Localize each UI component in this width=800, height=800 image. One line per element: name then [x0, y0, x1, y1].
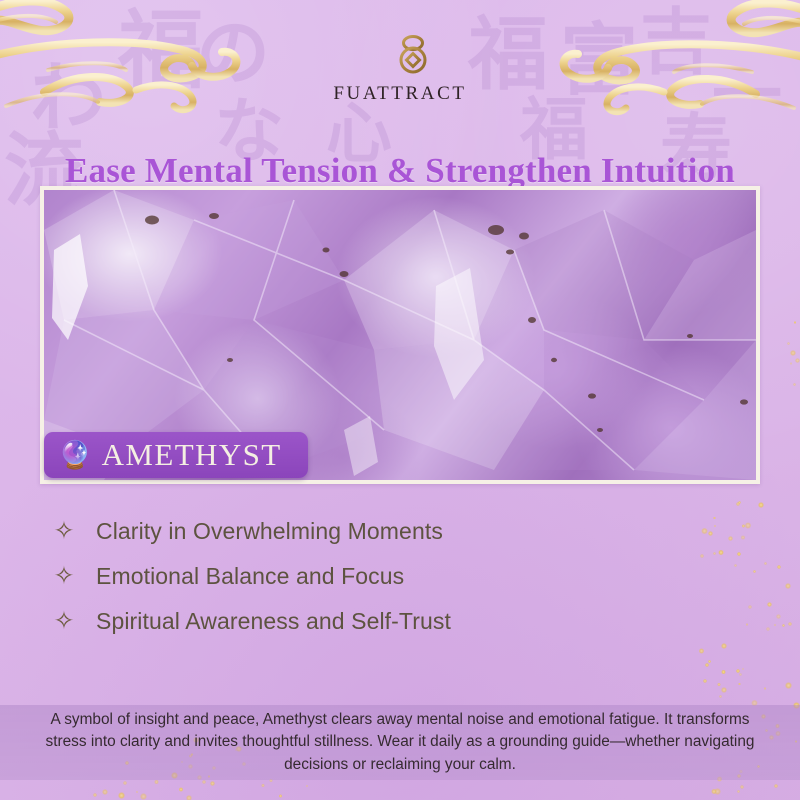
list-item: ✧ Emotional Balance and Focus	[52, 563, 672, 590]
status-badge: 🔮 AMETHYST	[44, 432, 308, 478]
glitter-particle	[736, 669, 740, 673]
glitter-particle	[708, 531, 713, 536]
sparkle-star-icon: ✧	[52, 609, 76, 634]
glitter-particle	[795, 358, 799, 362]
glitter-particle	[721, 687, 727, 693]
glitter-particle	[118, 792, 125, 799]
benefit-list: ✧ Clarity in Overwhelming Moments ✧ Emot…	[52, 518, 672, 635]
brand-header: FUATTRACT	[0, 26, 800, 105]
glitter-particle	[777, 565, 781, 569]
glitter-particle	[782, 624, 786, 628]
glitter-particle	[742, 524, 745, 527]
footer-description: A symbol of insight and peace, Amethyst …	[28, 709, 772, 777]
glitter-particle	[717, 683, 720, 686]
glitter-particle	[739, 673, 742, 676]
list-item-label: Spiritual Awareness and Self-Trust	[96, 608, 451, 635]
glitter-particle	[785, 682, 792, 689]
glitter-particle	[728, 536, 733, 541]
glitter-particle	[713, 552, 716, 555]
glitter-particle	[721, 643, 727, 649]
glitter-particle	[774, 624, 776, 626]
list-item-label: Clarity in Overwhelming Moments	[96, 518, 443, 545]
glitter-particle	[261, 784, 264, 787]
glitter-particle	[719, 695, 721, 697]
glitter-particle	[764, 562, 767, 565]
glitter-particle	[179, 787, 184, 792]
glitter-particle	[701, 528, 708, 535]
glitter-particle	[714, 525, 716, 527]
brand-wordmark: FUATTRACT	[333, 83, 466, 105]
glitter-particle	[737, 552, 742, 557]
glitter-particle	[748, 605, 752, 609]
glitter-particle	[790, 350, 796, 356]
glitter-particle	[753, 570, 756, 573]
glitter-particle	[758, 502, 764, 508]
glitter-particle	[738, 683, 740, 685]
glitter-particle	[202, 780, 206, 784]
glitter-particle	[736, 502, 740, 506]
glitter-particle	[788, 622, 792, 626]
sparkle-star-icon: ✧	[52, 519, 76, 544]
glitter-particle	[745, 522, 752, 529]
glitter-particle	[776, 614, 781, 619]
glitter-particle	[793, 383, 796, 386]
glitter-particle	[785, 583, 792, 590]
poster-canvas: 福の福富吉一わ流な心福寿	[0, 0, 800, 800]
glitter-particle	[136, 791, 138, 793]
glitter-particle	[740, 785, 744, 789]
fuattract-emblem-icon	[369, 26, 431, 78]
glitter-particle	[699, 648, 705, 654]
glitter-particle	[713, 517, 716, 520]
list-item-label: Emotional Balance and Focus	[96, 563, 404, 590]
glitter-particle	[140, 793, 147, 800]
glitter-particle	[711, 789, 716, 794]
glitter-particle	[102, 789, 108, 795]
glitter-particle	[93, 793, 97, 797]
glitter-particle	[794, 321, 797, 324]
glitter-particle	[306, 785, 308, 787]
glitter-particle	[703, 679, 707, 683]
footer-band: A symbol of insight and peace, Amethyst …	[0, 705, 800, 780]
glitter-particle	[714, 788, 721, 795]
glitter-particle	[741, 535, 745, 539]
list-item: ✧ Clarity in Overwhelming Moments	[52, 518, 672, 545]
glitter-particle	[186, 795, 193, 800]
glitter-particle	[767, 602, 772, 607]
glitter-particle	[123, 781, 126, 784]
glitter-particle	[210, 781, 215, 786]
glitter-particle	[737, 790, 740, 793]
glitter-particle	[154, 780, 158, 784]
glitter-particle	[708, 660, 711, 663]
crystal-ball-icon: 🔮	[58, 442, 92, 469]
glitter-particle	[700, 554, 704, 558]
list-item: ✧ Spiritual Awareness and Self-Trust	[52, 608, 672, 635]
glitter-particle	[721, 670, 726, 675]
glitter-particle	[746, 623, 749, 626]
glitter-particle	[774, 784, 778, 788]
status-badge-label: AMETHYST	[102, 437, 282, 473]
glitter-particle	[766, 627, 770, 631]
glitter-particle	[790, 362, 793, 365]
glitter-particle	[718, 550, 724, 556]
glitter-particle	[742, 668, 744, 670]
glitter-particle	[738, 501, 741, 504]
glitter-particle	[279, 794, 283, 798]
glitter-particle	[764, 687, 766, 689]
glitter-particle	[734, 564, 737, 567]
glitter-particle	[787, 342, 789, 344]
glitter-particle	[705, 663, 709, 667]
sparkle-star-icon: ✧	[52, 564, 76, 589]
